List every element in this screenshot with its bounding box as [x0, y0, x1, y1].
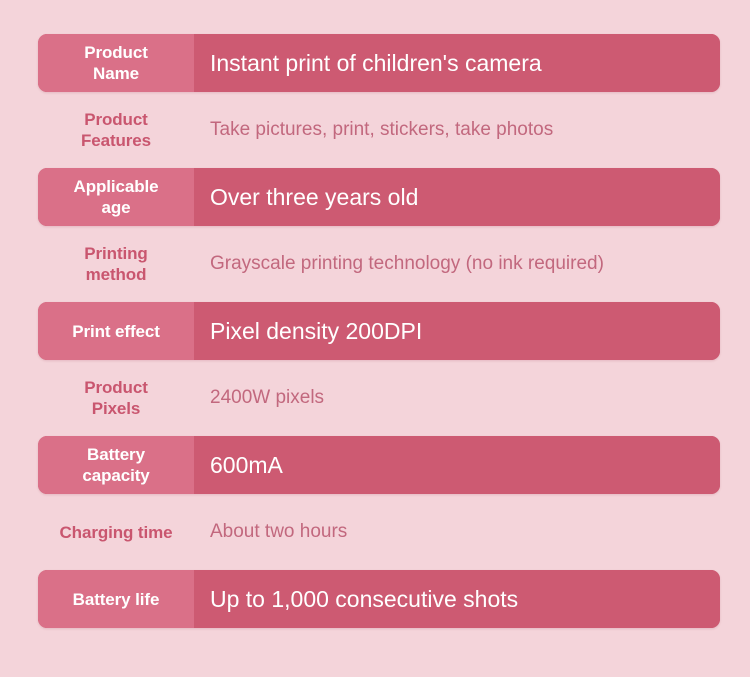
spec-label-cell: ProductName	[38, 34, 194, 92]
spec-label-cell: Print effect	[38, 302, 194, 360]
spec-label-line-1: Product	[81, 109, 151, 130]
spec-label-line-2: age	[74, 197, 159, 218]
spec-value-cell: Pixel density 200DPI	[194, 302, 720, 360]
spec-label-text: ProductName	[84, 42, 148, 84]
spec-label-line-2: Pixels	[84, 398, 148, 419]
spec-label-text: Applicableage	[74, 176, 159, 218]
spec-label-line-1: Product	[84, 377, 148, 398]
spec-value-cell: Up to 1,000 consecutive shots	[194, 570, 720, 628]
spec-label-text: Print effect	[72, 321, 160, 342]
spec-label-cell: Printingmethod	[38, 235, 194, 293]
spec-row: Battery lifeUp to 1,000 consecutive shot…	[38, 570, 720, 628]
spec-value-cell: About two hours	[194, 503, 720, 561]
spec-value-cell: 2400W pixels	[194, 369, 720, 427]
spec-label-line-1: Battery	[82, 444, 149, 465]
spec-label-text: Battery life	[73, 589, 160, 610]
spec-value-cell: Take pictures, print, stickers, take pho…	[194, 101, 720, 159]
spec-label-text: Printingmethod	[84, 243, 147, 285]
spec-label-line-1: Printing	[84, 243, 147, 264]
spec-label-line-2: Name	[84, 63, 148, 84]
spec-value-cell: 600mA	[194, 436, 720, 494]
spec-label-text: Batterycapacity	[82, 444, 149, 486]
spec-row: Charging timeAbout two hours	[38, 503, 720, 561]
spec-label-cell: ProductFeatures	[38, 101, 194, 159]
spec-label-text: ProductFeatures	[81, 109, 151, 151]
spec-value-cell: Instant print of children's camera	[194, 34, 720, 92]
spec-label-line-2: method	[84, 264, 147, 285]
spec-label-line-1: Product	[84, 42, 148, 63]
spec-label-line-1: Applicable	[74, 176, 159, 197]
spec-label-cell: Battery life	[38, 570, 194, 628]
spec-row: PrintingmethodGrayscale printing technol…	[38, 235, 720, 293]
spec-row: ProductPixels2400W pixels	[38, 369, 720, 427]
spec-label-line-1: Battery life	[73, 589, 160, 610]
spec-label-cell: Batterycapacity	[38, 436, 194, 494]
spec-label-line-1: Print effect	[72, 321, 160, 342]
spec-row: Print effectPixel density 200DPI	[38, 302, 720, 360]
spec-row: ApplicableageOver three years old	[38, 168, 720, 226]
spec-value-cell: Over three years old	[194, 168, 720, 226]
spec-row: ProductNameInstant print of children's c…	[38, 34, 720, 92]
product-spec-table: ProductNameInstant print of children's c…	[38, 34, 720, 637]
spec-label-cell: Applicableage	[38, 168, 194, 226]
spec-value-cell: Grayscale printing technology (no ink re…	[194, 235, 720, 293]
spec-label-line-2: capacity	[82, 465, 149, 486]
spec-label-cell: ProductPixels	[38, 369, 194, 427]
spec-label-cell: Charging time	[38, 503, 194, 561]
spec-label-text: Charging time	[60, 522, 173, 543]
spec-label-text: ProductPixels	[84, 377, 148, 419]
spec-row: ProductFeaturesTake pictures, print, sti…	[38, 101, 720, 159]
spec-label-line-2: Features	[81, 130, 151, 151]
spec-label-line-1: Charging time	[60, 522, 173, 543]
spec-row: Batterycapacity600mA	[38, 436, 720, 494]
